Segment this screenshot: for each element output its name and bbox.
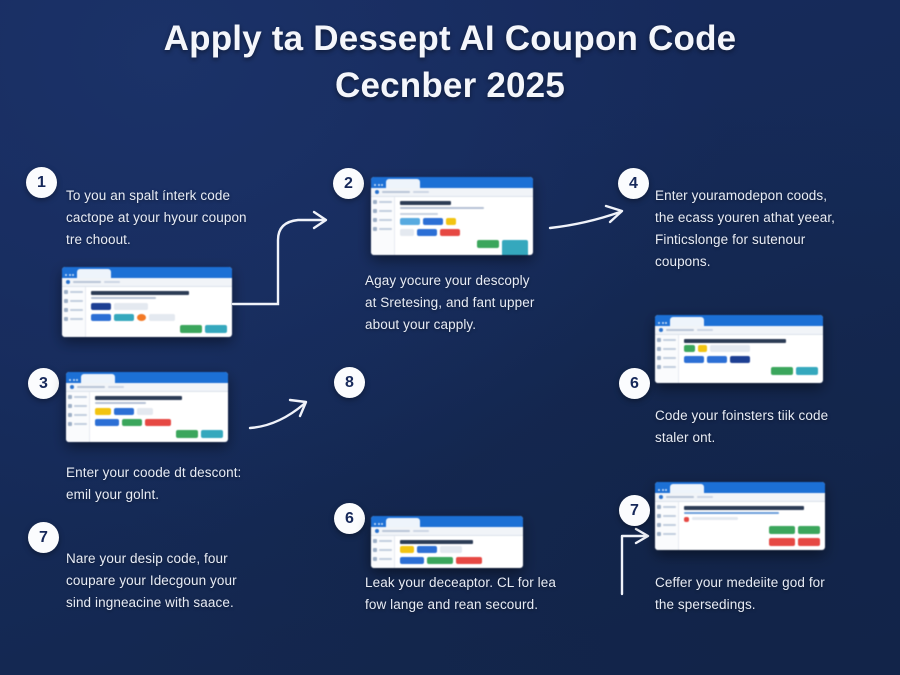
browser-address-bar [655,493,825,502]
app-main [86,287,232,337]
step-8-badge: 8 [334,367,365,398]
browser-address-bar [655,326,823,335]
browser-content [66,392,228,442]
step-4-badge: 4 [618,168,649,199]
step-6-bottom-line-1: Leak your deceaptor. CL for lea [365,572,600,594]
step-1-screenshot [62,267,232,337]
browser-chrome [655,482,825,493]
browser-chrome [66,372,228,383]
step-7-right-line-2: the spersedings. [655,594,890,616]
step-7-left-line-3: sind ingneacine with saace. [66,592,291,614]
app-main [395,197,533,255]
browser-content [371,197,533,255]
step-7-right-badge: 7 [619,495,650,526]
step-3-screenshot [66,372,228,442]
browser-address-bar [371,527,523,536]
step-1-text: To you an spalt ínterk code cactope at y… [66,185,266,251]
browser-content [62,287,232,337]
step-6-right-badge: 6 [619,368,650,399]
step-6-bottom-badge: 6 [334,503,365,534]
browser-content [655,335,823,383]
browser-chrome [62,267,232,278]
step-3-line-1: Enter your coode dt descont: [66,462,291,484]
step-7-left-text: Nare your desip code, four coupare your … [66,548,291,614]
step-1-badge: 1 [26,167,57,198]
browser-chrome [371,177,533,188]
step-6-right-line-1: Code your foinsters tiik code [655,405,880,427]
app-main [90,392,228,442]
app-sidebar [371,536,395,568]
step-7-right-line-1: Ceffer your medeiite god for [655,572,890,594]
step-3-badge: 3 [28,368,59,399]
step-7-right-screenshot [655,482,825,550]
step-6-bottom-text: Leak your deceaptor. CL for lea fow lang… [365,572,600,616]
page-title: Apply ta Dessept AI Coupon Code Cecnber … [0,16,900,110]
step-7-left-badge: 7 [28,522,59,553]
app-main [679,502,825,550]
step-3-line-2: emil your golnt. [66,484,291,506]
step-1-line-1: To you an spalt ínterk code [66,185,266,207]
arrow-step3-to-step8 [248,392,328,436]
step-2-text: Agay yocure your descoply at Sretesing, … [365,270,580,336]
browser-address-bar [371,188,533,197]
browser-address-bar [62,278,232,287]
app-sidebar [655,335,679,383]
step-4-text: Enter youramodepon coods, the ecass your… [655,185,870,272]
app-sidebar [655,502,679,550]
step-1-line-3: tre choout. [66,229,266,251]
title-line-2: Cecnber 2025 [60,63,840,110]
step-6-right-screenshot [655,315,823,383]
step-4-line-4: coupons. [655,251,870,273]
step-4-line-3: Finticslonge for sutenour [655,229,870,251]
app-sidebar [371,197,395,255]
app-sidebar [66,392,90,442]
step-3-text: Enter your coode dt descont: emil your g… [66,462,291,506]
step-2-line-1: Agay yocure your descoply [365,270,580,292]
app-main [679,335,823,383]
step-6-bottom-line-2: fow lange and rean secourd. [365,594,600,616]
step-4-line-2: the ecass youren athat yeear, [655,207,870,229]
arrow-step2-to-step4 [548,198,638,242]
browser-content [655,502,825,550]
browser-chrome [655,315,823,326]
app-sidebar [62,287,86,337]
step-4-line-1: Enter youramodepon coods, [655,185,870,207]
app-main [395,536,523,568]
step-2-line-2: at Sretesing, and fant upper [365,292,580,314]
step-7-right-text: Ceffer your medeiite god for the spersed… [655,572,890,616]
step-6-right-line-2: staler ont. [655,427,880,449]
step-7-left-line-1: Nare your desip code, four [66,548,291,570]
step-2-screenshot [371,177,533,255]
title-line-1: Apply ta Dessept AI Coupon Code [164,19,737,58]
browser-address-bar [66,383,228,392]
step-7-left-line-2: coupare your Idecgoun your [66,570,291,592]
browser-chrome [371,516,523,527]
step-2-badge: 2 [333,168,364,199]
browser-content [371,536,523,568]
step-6-bottom-screenshot [371,516,523,568]
step-2-line-3: about your capply. [365,314,580,336]
step-1-line-2: cactope at your hyour coupon [66,207,266,229]
infographic-canvas: Apply ta Dessept AI Coupon Code Cecnber … [0,0,900,675]
step-6-right-text: Code your foinsters tiik code staler ont… [655,405,880,449]
